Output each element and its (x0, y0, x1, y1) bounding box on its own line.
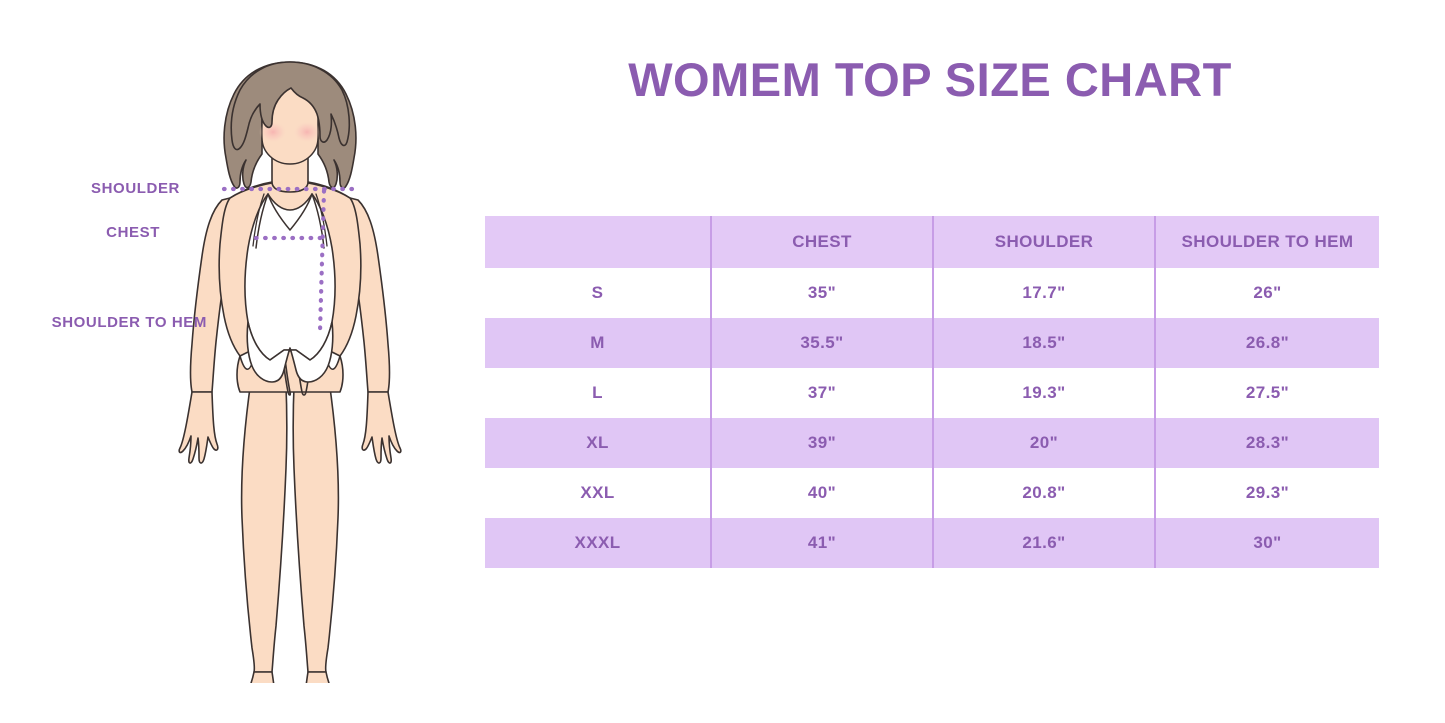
cell-size: M (485, 318, 711, 368)
table-row: M 35.5" 18.5" 26.8" (485, 318, 1379, 368)
cell-shoulder-to-hem: 26.8" (1155, 318, 1379, 368)
right-leg (293, 348, 338, 672)
label-chest: CHEST (0, 224, 160, 241)
blush-right (293, 121, 321, 143)
right-foot (304, 672, 338, 683)
cell-shoulder: 20" (933, 418, 1155, 468)
column-header-shoulder-to-hem: SHOULDER TO HEM (1155, 216, 1379, 268)
column-header-size (485, 216, 711, 268)
blush-left (259, 121, 287, 143)
label-shoulder: SHOULDER (0, 180, 180, 197)
left-hand (179, 392, 218, 463)
cell-shoulder-to-hem: 26" (1155, 268, 1379, 318)
female-body-illustration (160, 48, 420, 683)
left-foot (241, 672, 275, 683)
column-header-chest: CHEST (711, 216, 933, 268)
left-leg (242, 348, 287, 672)
cell-size: XXXL (485, 518, 711, 568)
table-header: CHEST SHOULDER SHOULDER TO HEM (485, 216, 1379, 268)
cell-shoulder: 17.7" (933, 268, 1155, 318)
table-row: L 37" 19.3" 27.5" (485, 368, 1379, 418)
cell-shoulder-to-hem: 27.5" (1155, 368, 1379, 418)
right-hand (362, 392, 401, 463)
cell-size: S (485, 268, 711, 318)
table-row: XXXL 41" 21.6" 30" (485, 518, 1379, 568)
cell-shoulder-to-hem: 28.3" (1155, 418, 1379, 468)
cell-size: XL (485, 418, 711, 468)
table-row: S 35" 17.7" 26" (485, 268, 1379, 318)
table-header-row: CHEST SHOULDER SHOULDER TO HEM (485, 216, 1379, 268)
size-chart-table: CHEST SHOULDER SHOULDER TO HEM S 35" 17.… (485, 216, 1379, 568)
table-row: XXL 40" 20.8" 29.3" (485, 468, 1379, 518)
cell-shoulder: 21.6" (933, 518, 1155, 568)
page-title: WOMEM TOP SIZE CHART (485, 52, 1375, 107)
cell-chest: 35.5" (711, 318, 933, 368)
cell-chest: 39" (711, 418, 933, 468)
table-body: S 35" 17.7" 26" M 35.5" 18.5" 26.8" L 37… (485, 268, 1379, 568)
cell-size: L (485, 368, 711, 418)
table-row: XL 39" 20" 28.3" (485, 418, 1379, 468)
cell-chest: 40" (711, 468, 933, 518)
cell-shoulder: 19.3" (933, 368, 1155, 418)
cell-chest: 37" (711, 368, 933, 418)
cell-size: XXL (485, 468, 711, 518)
cell-shoulder-to-hem: 30" (1155, 518, 1379, 568)
cell-shoulder: 18.5" (933, 318, 1155, 368)
cell-shoulder: 20.8" (933, 468, 1155, 518)
cell-chest: 35" (711, 268, 933, 318)
label-shoulder-to-hem: SHOULDER TO HEM (0, 314, 207, 331)
cell-shoulder-to-hem: 29.3" (1155, 468, 1379, 518)
cell-chest: 41" (711, 518, 933, 568)
column-header-shoulder: SHOULDER (933, 216, 1155, 268)
